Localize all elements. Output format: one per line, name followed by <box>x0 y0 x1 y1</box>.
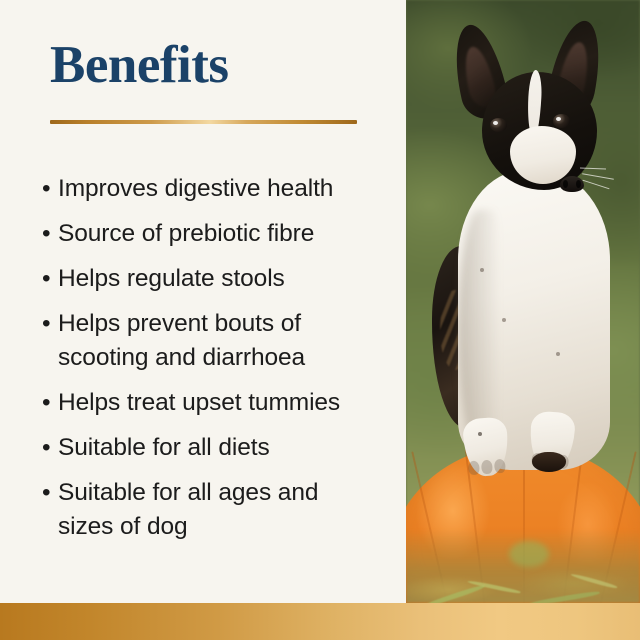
list-item-label: Helps prevent bouts of scooting and diar… <box>58 307 370 375</box>
bullet-icon: • <box>42 172 58 206</box>
list-item-label: Improves digestive health <box>58 172 370 206</box>
dog-muzzle <box>510 126 576 184</box>
list-item: • Suitable for all ages and sizes of dog <box>42 476 382 544</box>
dog-nose <box>560 176 584 192</box>
dog-paw-shadow <box>532 452 566 472</box>
bullet-icon: • <box>42 262 58 296</box>
list-item-label: Helps treat upset tummies <box>58 386 370 420</box>
benefits-list: • Improves digestive health • Source of … <box>42 172 382 555</box>
dog-eye-left <box>490 118 507 132</box>
text-panel: Benefits • Improves digestive health • S… <box>0 0 406 603</box>
list-item: • Suitable for all diets <box>42 431 382 465</box>
panel-seam <box>404 0 406 603</box>
list-item: • Helps prevent bouts of scooting and di… <box>42 307 382 375</box>
dog-eye-right <box>553 114 570 128</box>
list-item: • Source of prebiotic fibre <box>42 217 382 251</box>
bullet-icon: • <box>42 307 58 341</box>
dog-image <box>406 0 640 603</box>
bullet-icon: • <box>42 476 58 510</box>
list-item-label: Suitable for all diets <box>58 431 370 465</box>
list-item: • Helps regulate stools <box>42 262 382 296</box>
page-title: Benefits <box>50 38 229 94</box>
product-photo <box>406 0 640 603</box>
list-item: • Improves digestive health <box>42 172 382 206</box>
bullet-icon: • <box>42 217 58 251</box>
footer-gold-band <box>0 603 640 640</box>
title-divider <box>50 120 357 124</box>
list-item-label: Source of prebiotic fibre <box>58 217 370 251</box>
list-item-label: Helps regulate stools <box>58 262 370 296</box>
bullet-icon: • <box>42 386 58 420</box>
benefits-panel-canvas: Benefits • Improves digestive health • S… <box>0 0 640 640</box>
list-item-label: Suitable for all ages and sizes of dog <box>58 476 370 544</box>
dog-paw-left <box>462 417 510 478</box>
list-item: • Helps treat upset tummies <box>42 386 382 420</box>
bullet-icon: • <box>42 431 58 465</box>
